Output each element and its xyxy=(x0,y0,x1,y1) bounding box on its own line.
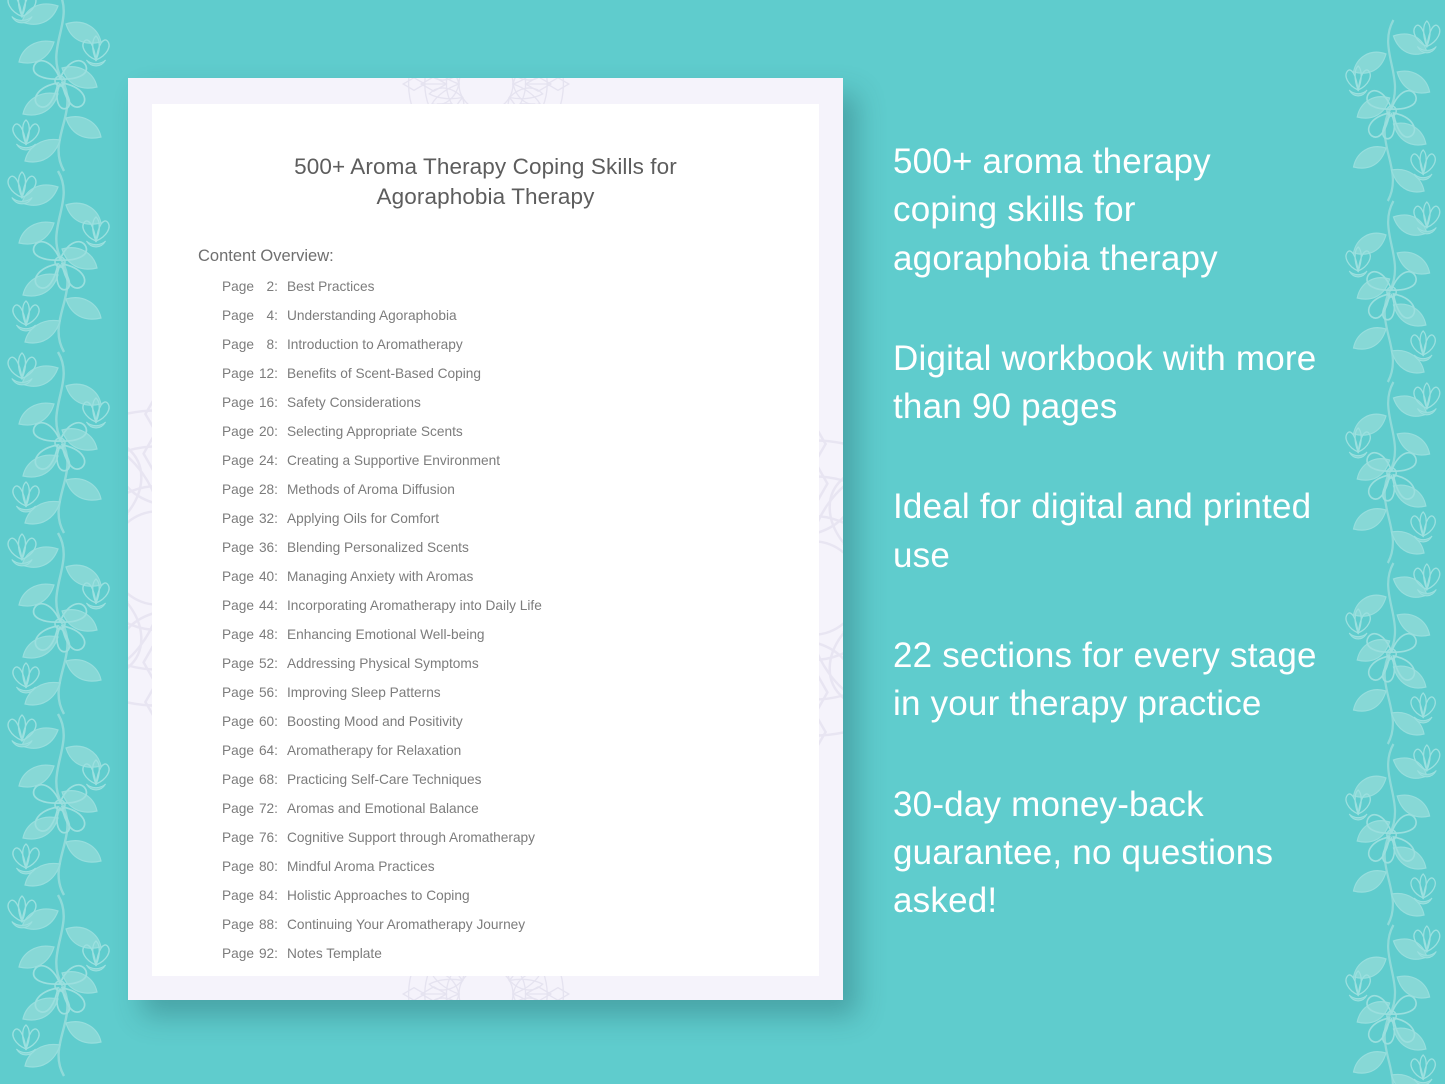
toc-page-word: Page xyxy=(222,831,254,845)
toc-item: Page12:Benefits of Scent-Based Coping xyxy=(222,367,819,381)
toc-section-title: Managing Anxiety with Aromas xyxy=(278,570,473,584)
toc-item: Page64:Aromatherapy for Relaxation xyxy=(222,744,819,758)
toc-section-title: Methods of Aroma Diffusion xyxy=(278,483,455,497)
toc-section-title: Understanding Agoraphobia xyxy=(278,309,457,323)
toc-item: Page44:Incorporating Aromatherapy into D… xyxy=(222,599,819,613)
toc-page-number: 20: xyxy=(254,425,278,439)
toc-page-word: Page xyxy=(222,425,254,439)
toc-section-title: Mindful Aroma Practices xyxy=(278,860,435,874)
toc-section-title: Practicing Self-Care Techniques xyxy=(278,773,482,787)
toc-section-title: Introduction to Aromatherapy xyxy=(278,338,463,352)
toc-item: Page48:Enhancing Emotional Well-being xyxy=(222,628,819,642)
toc-page-number: 16: xyxy=(254,396,278,410)
floral-vine-border-right-icon xyxy=(1321,0,1445,1084)
toc-page-word: Page xyxy=(222,715,254,729)
page-title: 500+ Aroma Therapy Coping Skills for Ago… xyxy=(152,104,819,211)
toc-page-number: 76: xyxy=(254,831,278,845)
toc-section-title: Safety Considerations xyxy=(278,396,421,410)
toc-item: Page84:Holistic Approaches to Coping xyxy=(222,889,819,903)
toc-section-title: Blending Personalized Scents xyxy=(278,541,469,555)
toc-page-number: 8: xyxy=(254,338,278,352)
marketing-point: Ideal for digital and printed use xyxy=(893,483,1323,580)
toc-item: Page60:Boosting Mood and Positivity xyxy=(222,715,819,729)
toc-page-word: Page xyxy=(222,454,254,468)
toc-section-title: Creating a Supportive Environment xyxy=(278,454,500,468)
toc-section-title: Applying Oils for Comfort xyxy=(278,512,439,526)
toc-item: Page92:Notes Template xyxy=(222,947,819,961)
toc-page-word: Page xyxy=(222,657,254,671)
toc-page-number: 32: xyxy=(254,512,278,526)
toc-page-word: Page xyxy=(222,512,254,526)
toc-page-number: 88: xyxy=(254,918,278,932)
toc-section-title: Incorporating Aromatherapy into Daily Li… xyxy=(278,599,542,613)
toc-section-title: Enhancing Emotional Well-being xyxy=(278,628,485,642)
toc-section-title: Benefits of Scent-Based Coping xyxy=(278,367,481,381)
toc-item: Page52:Addressing Physical Symptoms xyxy=(222,657,819,671)
toc-page-word: Page xyxy=(222,338,254,352)
product-mockup-canvas: 500+ Aroma Therapy Coping Skills for Ago… xyxy=(0,0,1445,1084)
toc-section-title: Aromatherapy for Relaxation xyxy=(278,744,461,758)
page-title-line-1: 500+ Aroma Therapy Coping Skills for xyxy=(294,154,677,179)
toc-item: Page28:Methods of Aroma Diffusion xyxy=(222,483,819,497)
toc-page-word: Page xyxy=(222,744,254,758)
toc-page-word: Page xyxy=(222,599,254,613)
toc-item: Page2:Best Practices xyxy=(222,280,819,294)
toc-section-title: Improving Sleep Patterns xyxy=(278,686,441,700)
toc-item: Page80:Mindful Aroma Practices xyxy=(222,860,819,874)
toc-section-title: Addressing Physical Symptoms xyxy=(278,657,479,671)
toc-item: Page76:Cognitive Support through Aromath… xyxy=(222,831,819,845)
toc-page-word: Page xyxy=(222,570,254,584)
toc-item: Page16:Safety Considerations xyxy=(222,396,819,410)
toc-page-word: Page xyxy=(222,309,254,323)
toc-page-word: Page xyxy=(222,686,254,700)
toc-page-word: Page xyxy=(222,889,254,903)
toc-page-word: Page xyxy=(222,628,254,642)
marketing-copy-list: 500+ aroma therapy coping skills for ago… xyxy=(893,138,1323,926)
toc-item: Page40:Managing Anxiety with Aromas xyxy=(222,570,819,584)
toc-section-title: Best Practices xyxy=(278,280,374,294)
toc-page-word: Page xyxy=(222,802,254,816)
page-title-line-2: Agoraphobia Therapy xyxy=(377,184,595,209)
toc-page-number: 40: xyxy=(254,570,278,584)
toc-page-word: Page xyxy=(222,773,254,787)
toc-page-number: 28: xyxy=(254,483,278,497)
toc-page-number: 44: xyxy=(254,599,278,613)
floral-vine-border-left-icon xyxy=(0,0,136,1084)
toc-item: Page56:Improving Sleep Patterns xyxy=(222,686,819,700)
toc-page-word: Page xyxy=(222,541,254,555)
toc-page-number: 12: xyxy=(254,367,278,381)
marketing-point: 30-day money-back guarantee, no question… xyxy=(893,781,1323,926)
toc-item: Page20:Selecting Appropriate Scents xyxy=(222,425,819,439)
toc-item: Page8:Introduction to Aromatherapy xyxy=(222,338,819,352)
toc-section-title: Selecting Appropriate Scents xyxy=(278,425,463,439)
toc-page-number: 84: xyxy=(254,889,278,903)
toc-page-number: 52: xyxy=(254,657,278,671)
toc-page-number: 68: xyxy=(254,773,278,787)
toc-page-number: 24: xyxy=(254,454,278,468)
toc-item: Page32:Applying Oils for Comfort xyxy=(222,512,819,526)
workbook-preview-card: 500+ Aroma Therapy Coping Skills for Ago… xyxy=(128,78,843,1000)
workbook-page: 500+ Aroma Therapy Coping Skills for Ago… xyxy=(152,104,819,976)
toc-section-title: Notes Template xyxy=(278,947,382,961)
toc-page-number: 60: xyxy=(254,715,278,729)
toc-page-word: Page xyxy=(222,483,254,497)
marketing-point: 22 sections for every stage in your ther… xyxy=(893,632,1323,729)
toc-section-title: Aromas and Emotional Balance xyxy=(278,802,479,816)
marketing-point: Digital workbook with more than 90 pages xyxy=(893,335,1323,432)
toc-page-number: 64: xyxy=(254,744,278,758)
content-overview-label: Content Overview: xyxy=(152,211,819,266)
toc-item: Page72:Aromas and Emotional Balance xyxy=(222,802,819,816)
toc-section-title: Continuing Your Aromatherapy Journey xyxy=(278,918,525,932)
toc-page-number: 92: xyxy=(254,947,278,961)
toc-page-word: Page xyxy=(222,918,254,932)
toc-section-title: Cognitive Support through Aromatherapy xyxy=(278,831,535,845)
toc-section-title: Holistic Approaches to Coping xyxy=(278,889,470,903)
toc-page-number: 48: xyxy=(254,628,278,642)
toc-item: Page88:Continuing Your Aromatherapy Jour… xyxy=(222,918,819,932)
toc-section-title: Boosting Mood and Positivity xyxy=(278,715,463,729)
toc-page-number: 56: xyxy=(254,686,278,700)
toc-page-word: Page xyxy=(222,367,254,381)
toc-page-number: 72: xyxy=(254,802,278,816)
toc-page-word: Page xyxy=(222,860,254,874)
toc-page-number: 4: xyxy=(254,309,278,323)
toc-page-number: 36: xyxy=(254,541,278,555)
toc-item: Page68:Practicing Self-Care Techniques xyxy=(222,773,819,787)
toc-page-word: Page xyxy=(222,947,254,961)
toc-page-number: 2: xyxy=(254,280,278,294)
toc-item: Page24:Creating a Supportive Environment xyxy=(222,454,819,468)
table-of-contents: Page2:Best PracticesPage4:Understanding … xyxy=(152,266,819,961)
toc-page-word: Page xyxy=(222,280,254,294)
toc-page-number: 80: xyxy=(254,860,278,874)
toc-page-word: Page xyxy=(222,396,254,410)
marketing-point: 500+ aroma therapy coping skills for ago… xyxy=(893,138,1323,283)
toc-item: Page4:Understanding Agoraphobia xyxy=(222,309,819,323)
toc-item: Page36:Blending Personalized Scents xyxy=(222,541,819,555)
